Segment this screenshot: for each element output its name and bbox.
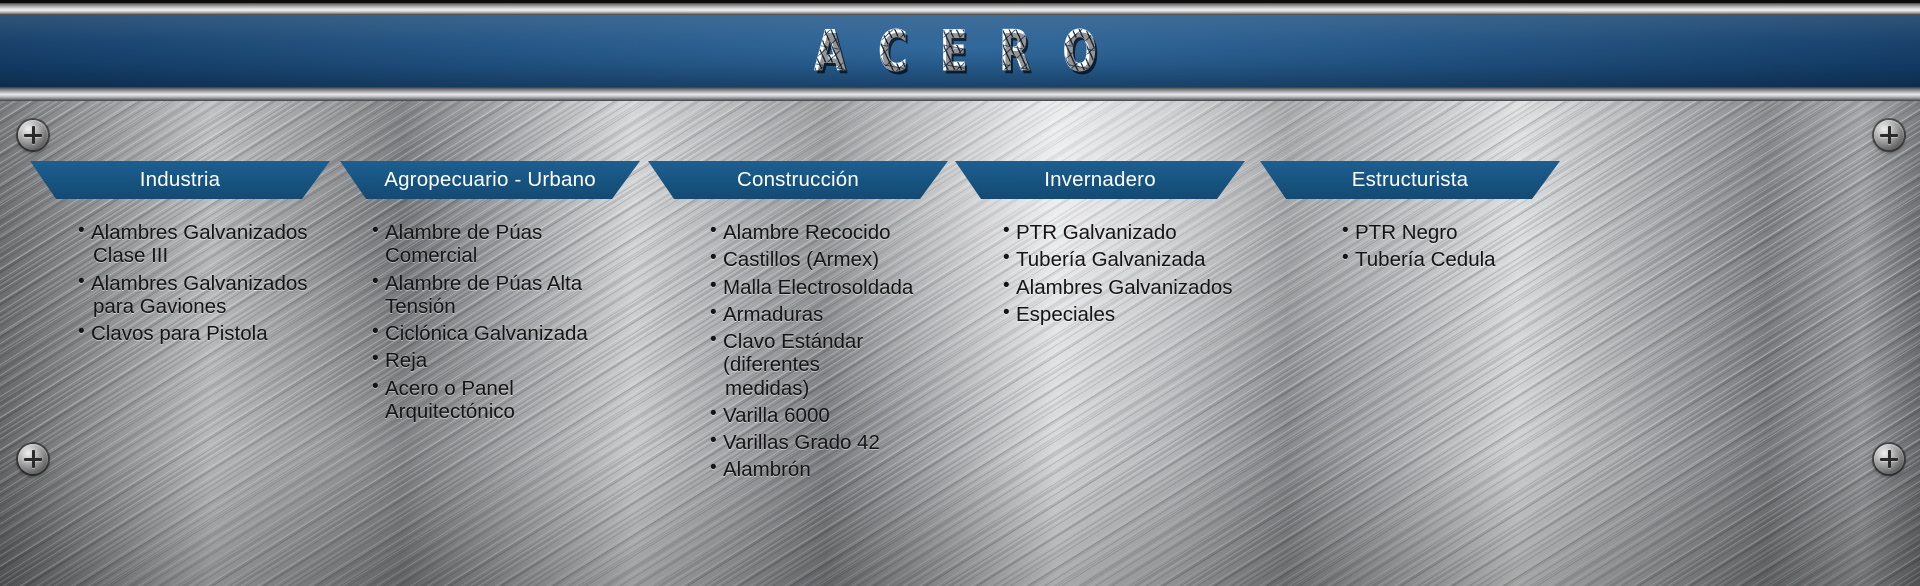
product-list-item: PTR Negro bbox=[1342, 221, 1560, 244]
product-list: Alambres GalvanizadosClase IIIAlambres G… bbox=[30, 221, 330, 345]
product-list-item: Clavos para Pistola bbox=[78, 322, 330, 345]
title-letter-2: C bbox=[878, 19, 916, 83]
product-name: Castillos (Armex) bbox=[723, 248, 879, 271]
product-list-item: Alambres Galvanizados bbox=[1003, 276, 1245, 299]
category-columns: IndustriaAlambres GalvanizadosClase IIIA… bbox=[0, 101, 1920, 586]
product-name: Tubería Galvanizada bbox=[1016, 248, 1206, 271]
product-name-continuation: medidas) bbox=[723, 377, 948, 400]
category-header-tab[interactable]: Industria bbox=[30, 161, 330, 199]
product-list: PTR NegroTubería Cedula bbox=[1260, 221, 1560, 272]
product-list-item: Alambrón bbox=[710, 458, 948, 481]
brushed-metal-panel: IndustriaAlambres GalvanizadosClase IIIA… bbox=[0, 101, 1920, 586]
product-name: Clavo Estándar (diferentes bbox=[723, 330, 863, 376]
product-name: Clavos para Pistola bbox=[91, 322, 268, 345]
product-list-item: Alambres Galvanizadospara Gaviones bbox=[78, 272, 330, 319]
product-list-item: Alambre de Púas Alta Tensión bbox=[372, 272, 640, 319]
product-list-item: Acero o Panel Arquitectónico bbox=[372, 377, 640, 424]
product-list: Alambre de Púas ComercialAlambre de Púas… bbox=[340, 221, 640, 423]
title-banner: ACERO bbox=[0, 0, 1920, 104]
category-column-3: ConstrucciónAlambre RecocidoCastillos (A… bbox=[648, 161, 948, 486]
product-name: Alambre de Púas Alta Tensión bbox=[385, 272, 582, 318]
product-list-item: Ciclónica Galvanizada bbox=[372, 322, 640, 345]
category-header-tab[interactable]: Estructurista bbox=[1260, 161, 1560, 199]
phillips-screw-icon bbox=[18, 120, 48, 150]
product-list: Alambre RecocidoCastillos (Armex)Malla E… bbox=[648, 221, 948, 482]
category-column-5: EstructuristaPTR NegroTubería Cedula bbox=[1260, 161, 1560, 276]
title-letter-1: A bbox=[814, 19, 853, 83]
category-column-1: IndustriaAlambres GalvanizadosClase IIIA… bbox=[30, 161, 330, 349]
title-letter-3: E bbox=[940, 19, 975, 83]
product-list-item: Castillos (Armex) bbox=[710, 248, 948, 271]
product-list-item: Malla Electrosoldada bbox=[710, 276, 948, 299]
product-list-item: Especiales bbox=[1003, 303, 1245, 326]
product-name: Ciclónica Galvanizada bbox=[385, 322, 588, 345]
product-name-continuation: Clase III bbox=[91, 244, 330, 267]
phillips-screw-icon bbox=[1874, 120, 1904, 150]
product-name: Tubería Cedula bbox=[1355, 248, 1496, 271]
product-list: PTR GalvanizadoTubería GalvanizadaAlambr… bbox=[955, 221, 1245, 326]
product-list-item: Varillas Grado 42 bbox=[710, 431, 948, 454]
title-letter-4: R bbox=[999, 19, 1038, 83]
product-name: Especiales bbox=[1016, 303, 1115, 326]
acero-product-poster: ACERO IndustriaAlambres GalvanizadosClas… bbox=[0, 0, 1920, 586]
category-header-tab[interactable]: Agropecuario - Urbano bbox=[340, 161, 640, 199]
phillips-screw-icon bbox=[1874, 444, 1904, 474]
title-letter-5: O bbox=[1063, 19, 1105, 83]
category-header-tab[interactable]: Construcción bbox=[648, 161, 948, 199]
product-name: Varilla 6000 bbox=[723, 404, 830, 427]
product-list-item: Alambre de Púas Comercial bbox=[372, 221, 640, 268]
product-list-item: Armaduras bbox=[710, 303, 948, 326]
product-name: Armaduras bbox=[723, 303, 823, 326]
product-name: PTR Galvanizado bbox=[1016, 221, 1177, 244]
page-title: ACERO bbox=[0, 15, 1920, 87]
category-header-tab[interactable]: Invernadero bbox=[955, 161, 1245, 199]
phillips-screw-icon bbox=[18, 444, 48, 474]
product-list-item: Clavo Estándar (diferentesmedidas) bbox=[710, 330, 948, 400]
product-name: Reja bbox=[385, 349, 427, 372]
product-list-item: Tubería Cedula bbox=[1342, 248, 1560, 271]
banner-top-rail bbox=[0, 3, 1920, 15]
product-name: Malla Electrosoldada bbox=[723, 276, 913, 299]
product-list-item: Alambre Recocido bbox=[710, 221, 948, 244]
page-title-letters: ACERO bbox=[810, 23, 1110, 80]
product-name: Alambres Galvanizados bbox=[1016, 276, 1233, 299]
product-name: Alambre de Púas Comercial bbox=[385, 221, 542, 267]
product-name: Alambrón bbox=[723, 458, 811, 481]
product-name: Alambres Galvanizados bbox=[91, 272, 308, 295]
product-list-item: Reja bbox=[372, 349, 640, 372]
product-list-item: PTR Galvanizado bbox=[1003, 221, 1245, 244]
product-name: Acero o Panel Arquitectónico bbox=[385, 377, 515, 423]
product-list-item: Varilla 6000 bbox=[710, 404, 948, 427]
banner-bottom-rail bbox=[0, 87, 1920, 101]
product-name: Alambre Recocido bbox=[723, 221, 891, 244]
product-list-item: Alambres GalvanizadosClase III bbox=[78, 221, 330, 268]
category-column-4: InvernaderoPTR GalvanizadoTubería Galvan… bbox=[955, 161, 1245, 330]
product-list-item: Tubería Galvanizada bbox=[1003, 248, 1245, 271]
product-name-continuation: para Gaviones bbox=[91, 295, 330, 318]
product-name: Varillas Grado 42 bbox=[723, 431, 880, 454]
category-column-2: Agropecuario - UrbanoAlambre de Púas Com… bbox=[340, 161, 640, 427]
product-name: Alambres Galvanizados bbox=[91, 221, 308, 244]
product-name: PTR Negro bbox=[1355, 221, 1458, 244]
